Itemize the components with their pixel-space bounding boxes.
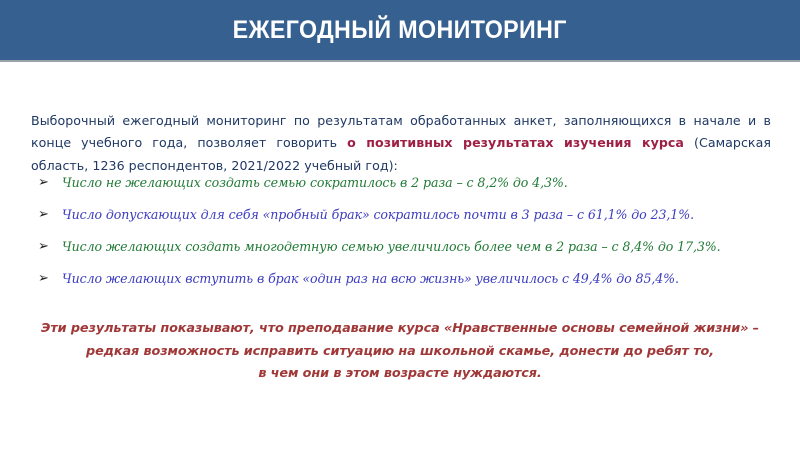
page-title: ЕЖЕГОДНЫЙ МОНИТОРИНГ [233, 18, 567, 43]
statistics-bullet-list: ➢ Число не желающих создать семью сократ… [38, 172, 780, 300]
arrow-bullet-icon: ➢ [38, 204, 62, 225]
slide: ЕЖЕГОДНЫЙ МОНИТОРИНГ Выборочный ежегодны… [0, 0, 800, 450]
conclusion-line-2: редкая возможность исправить ситуацию на… [14, 341, 786, 364]
arrow-bullet-icon: ➢ [38, 172, 62, 193]
conclusion-paragraph: Эти результаты показывают, что преподава… [14, 318, 786, 386]
list-item-label: Число допускающих для себя «пробный брак… [62, 204, 780, 225]
slide-title-bar: ЕЖЕГОДНЫЙ МОНИТОРИНГ [0, 0, 800, 60]
list-item: ➢ Число желающих создать многодетную сем… [38, 236, 780, 268]
list-item-label: Число желающих вступить в брак «один раз… [62, 268, 780, 289]
list-item-label: Число не желающих создать семью сократил… [62, 172, 780, 193]
arrow-bullet-icon: ➢ [38, 236, 62, 257]
intro-accent-phrase: о позитивных результатах изучения курса [347, 135, 684, 150]
intro-paragraph: Выборочный ежегодный мониторинг по резул… [31, 110, 771, 178]
list-item-label: Число желающих создать многодетную семью… [62, 236, 780, 257]
conclusion-line-3: в чем они в этом возрасте нуждаются. [14, 363, 786, 386]
title-divider [0, 60, 800, 62]
list-item: ➢ Число не желающих создать семью сократ… [38, 172, 780, 204]
list-item: ➢ Число желающих вступить в брак «один р… [38, 268, 780, 300]
list-item: ➢ Число допускающих для себя «пробный бр… [38, 204, 780, 236]
conclusion-line-1: Эти результаты показывают, что преподава… [14, 318, 786, 341]
arrow-bullet-icon: ➢ [38, 268, 62, 289]
